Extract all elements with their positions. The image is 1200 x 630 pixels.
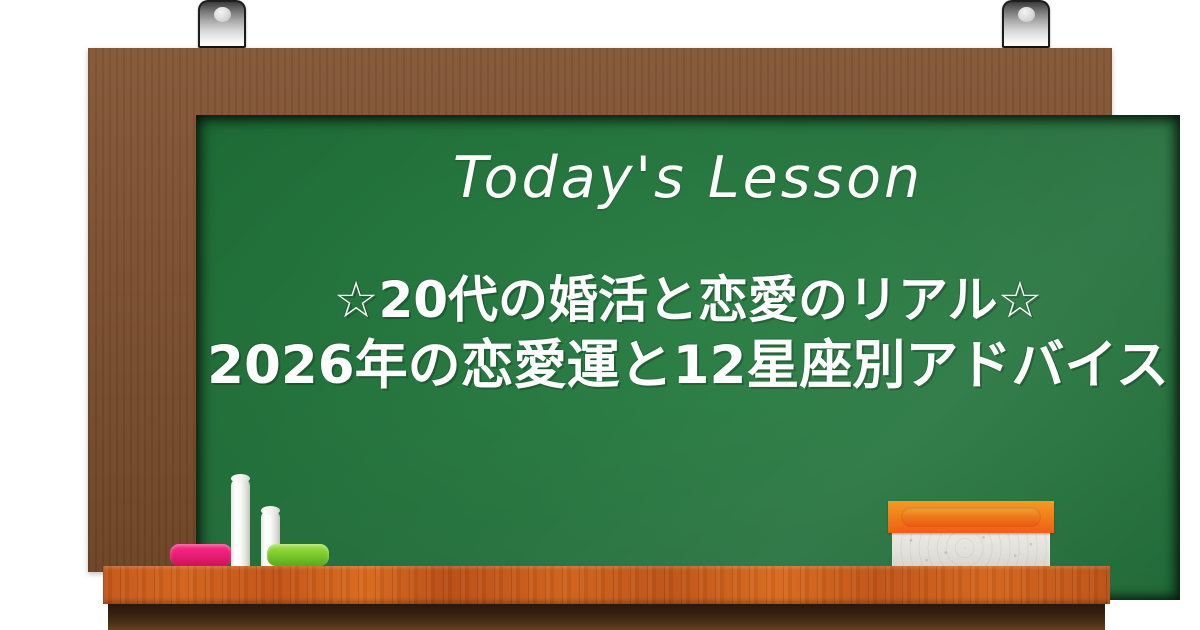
- chalk-tray-shadow: [108, 604, 1105, 630]
- chalk-green: [267, 544, 329, 566]
- chalk-pink: [170, 544, 232, 566]
- canvas-margin-right: [1105, 604, 1200, 630]
- page-title: Today's Lesson: [196, 145, 1180, 211]
- lesson-subtitle-line-1: ☆20代の婚活と恋愛のリアル☆: [196, 267, 1180, 333]
- lesson-subtitle-line-2: 2026年の恋愛運と12星座別アドバイス: [196, 333, 1180, 399]
- mounting-clip-left: [198, 0, 246, 48]
- eraser-handle: [888, 501, 1054, 533]
- canvas-margin-left: [0, 604, 108, 630]
- lesson-subtitle: ☆20代の婚活と恋愛のリアル☆ 2026年の恋愛運と12星座別アドバイス: [196, 267, 1180, 399]
- mounting-clip-right: [1002, 0, 1050, 48]
- chalkboard-banner: Today's Lesson ☆20代の婚活と恋愛のリアル☆ 2026年の恋愛運…: [0, 0, 1200, 630]
- eraser-felt: [892, 529, 1050, 567]
- chalk-tray-ledge: [103, 566, 1110, 604]
- chalkboard-eraser: [888, 501, 1054, 567]
- chalk-white-tall: [231, 478, 250, 567]
